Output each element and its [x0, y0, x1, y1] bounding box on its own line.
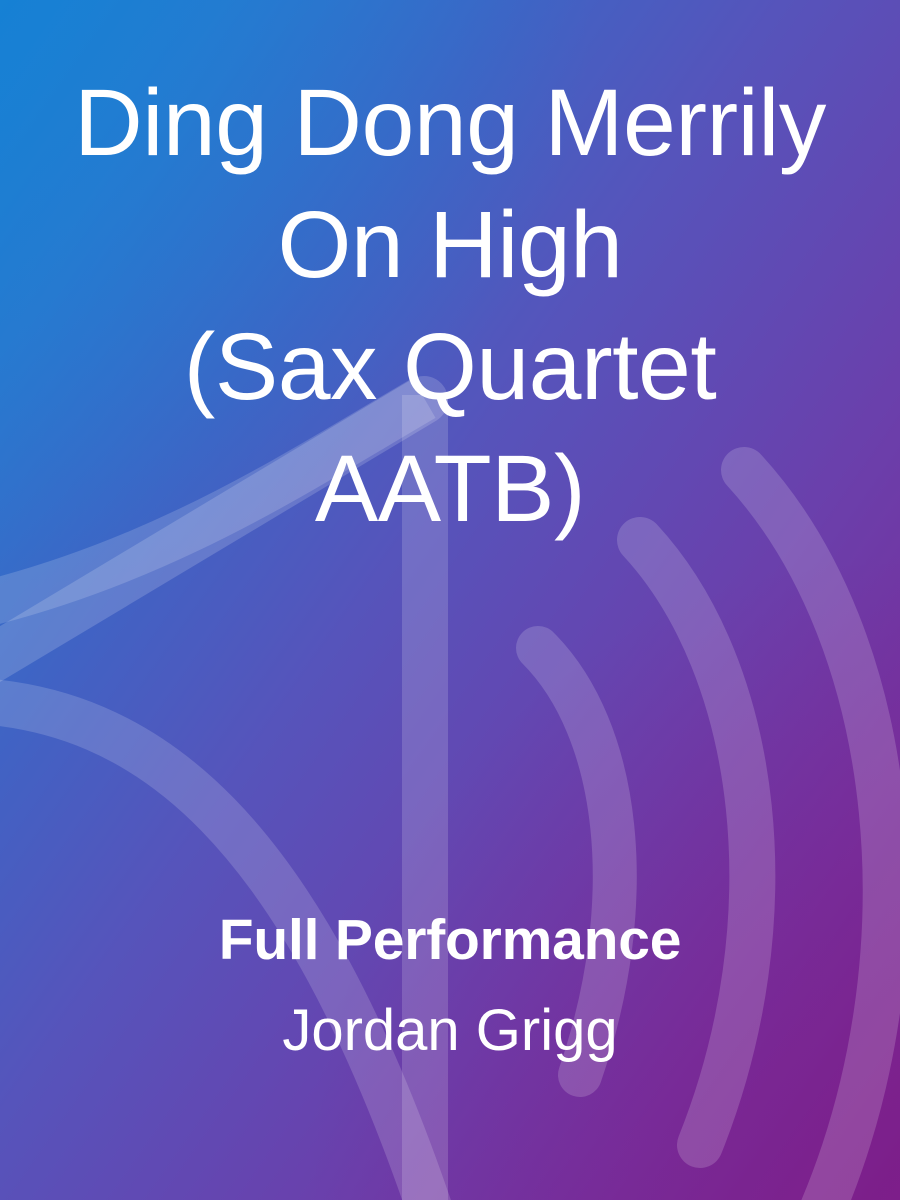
title-line-1: Ding Dong Merrily [50, 62, 850, 184]
page-title: Ding Dong Merrily On High (Sax Quartet A… [50, 62, 850, 550]
title-line-4: AATB) [50, 428, 850, 550]
composer-name: Jordan Grigg [0, 995, 900, 1067]
title-line-2: On High [50, 184, 850, 306]
title-line-3: (Sax Quartet [50, 306, 850, 428]
score-cover-page: Ding Dong Merrily On High (Sax Quartet A… [0, 0, 900, 1200]
cover-text-layer: Ding Dong Merrily On High (Sax Quartet A… [0, 0, 900, 1200]
performance-label: Full Performance [0, 905, 900, 975]
cover-footer: Full Performance Jordan Grigg [0, 905, 900, 1067]
